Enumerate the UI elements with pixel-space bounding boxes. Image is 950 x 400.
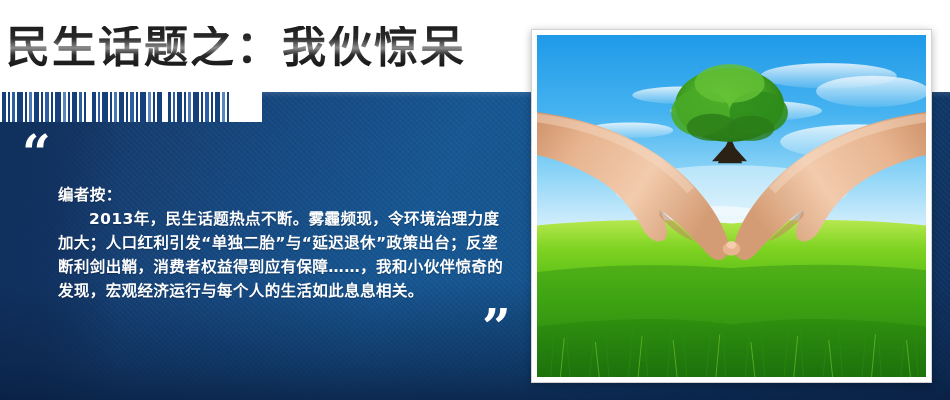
barcode-decoration: [0, 92, 262, 122]
hero-photo-illustration: [537, 35, 926, 377]
quote-close-mark: ”: [482, 302, 510, 352]
photo-frame: [531, 29, 932, 383]
editor-note: 编者按： 2013年，民生话题热点不断。雾霾频现，令环境治理力度加大；人口红利引…: [58, 183, 510, 303]
page-title: 民生话题之：我伙惊呆: [6, 26, 466, 70]
hero-photo: [537, 35, 926, 377]
editor-note-paragraph: 2013年，民生话题热点不断。雾霾频现，令环境治理力度加大；人口红利引发“单独二…: [58, 207, 510, 303]
barcode-bars-icon: [0, 92, 262, 122]
banner-root: 民生话题之：我伙惊呆 “ ” 编者按： 2013年，民生话题热点不断。雾霾频现，…: [0, 0, 950, 400]
quote-open-mark: “: [22, 128, 50, 178]
editor-note-lead: 编者按：: [58, 183, 510, 207]
